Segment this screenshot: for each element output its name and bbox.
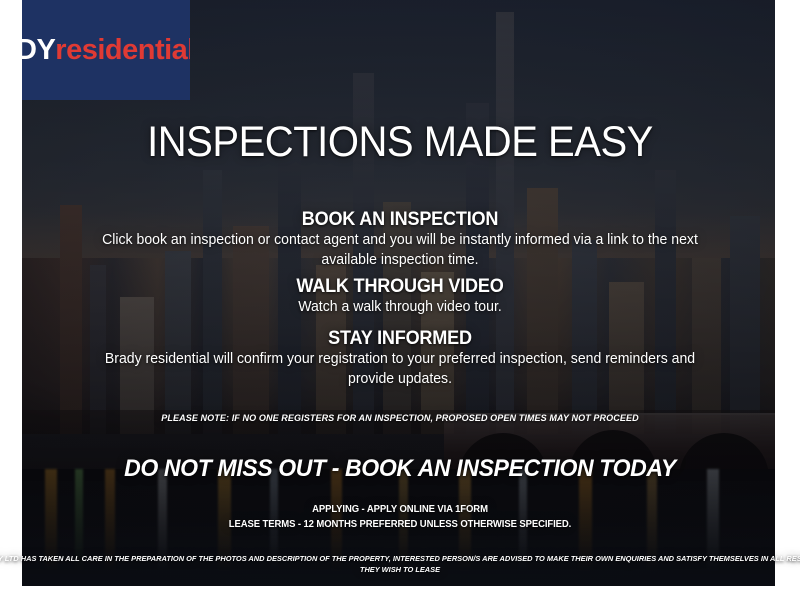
brand-logo-primary: DY [22, 34, 55, 66]
section-walk-through-video: WALK THROUGH VIDEO Watch a walk through … [0, 276, 800, 318]
disclaimer-block: TY LTD HAS TAKEN ALL CARE IN THE PREPARA… [0, 553, 800, 576]
terms-block: APPLYING - APPLY ONLINE VIA 1FORM LEASE … [20, 503, 780, 532]
disclaimer-line-2: THEY WISH TO LEASE [0, 564, 800, 575]
terms-applying-line: APPLYING - APPLY ONLINE VIA 1FORM [20, 503, 780, 518]
terms-lease-line: LEASE TERMS - 12 MONTHS PREFERRED UNLESS… [20, 518, 780, 533]
section-title: WALK THROUGH VIDEO [20, 276, 780, 298]
section-body: Brady residential will confirm your regi… [12, 350, 788, 389]
section-title: STAY INFORMED [20, 328, 780, 350]
brand-logo-secondary: residential [55, 34, 190, 66]
brand-logo-text: DYresidential [22, 36, 190, 65]
section-title: BOOK AN INSPECTION [20, 209, 780, 231]
section-body: Watch a walk through video tour. [12, 298, 788, 317]
please-note-text: PLEASE NOTE: IF NO ONE REGISTERS FOR AN … [20, 413, 780, 424]
brand-logo: DYresidential [22, 0, 190, 100]
section-stay-informed: STAY INFORMED Brady residential will con… [0, 328, 800, 389]
disclaimer-line-1: TY LTD HAS TAKEN ALL CARE IN THE PREPARA… [0, 553, 800, 564]
section-body: Click book an inspection or contact agen… [12, 231, 788, 270]
inspection-poster: DYresidential INSPECTIONS MADE EASY BOOK… [0, 0, 800, 600]
section-book-an-inspection: BOOK AN INSPECTION Click book an inspect… [0, 209, 800, 270]
page-title: INSPECTIONS MADE EASY [28, 121, 772, 164]
call-to-action-text: DO NOT MISS OUT - BOOK AN INSPECTION TOD… [16, 455, 784, 483]
